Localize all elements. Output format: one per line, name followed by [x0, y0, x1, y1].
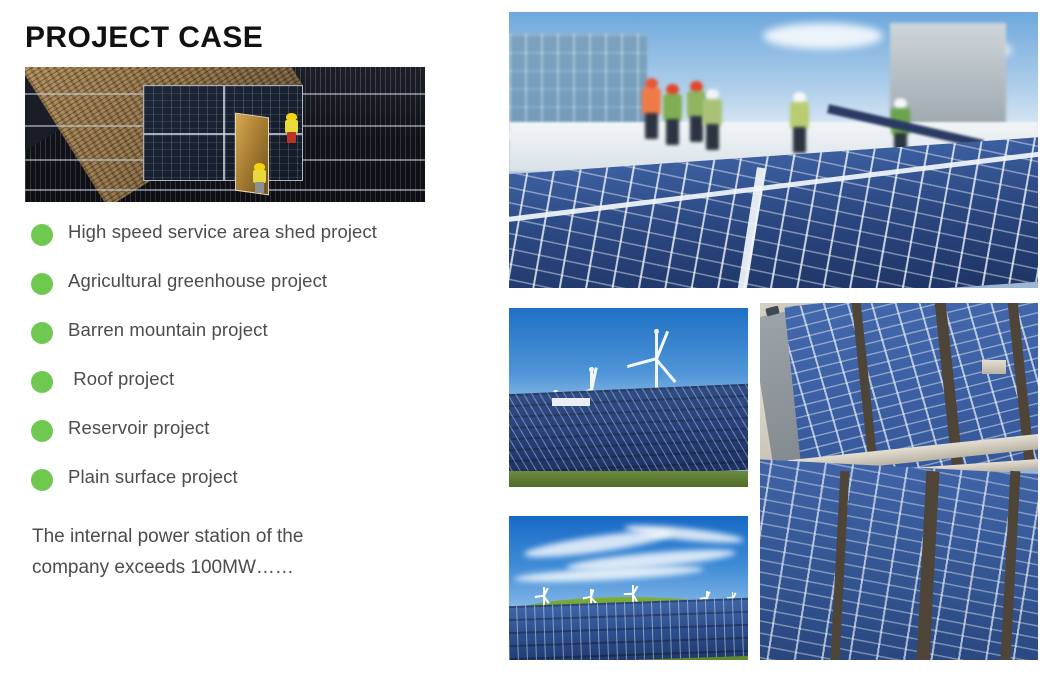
- list-item[interactable]: High speed service area shed project: [0, 216, 470, 265]
- inverter-building: [552, 398, 590, 407]
- solar-field-green-hills-photo: [509, 516, 748, 660]
- worker-legs: [255, 182, 264, 193]
- lower-panel-array: [760, 459, 1038, 660]
- roof-solar-installation-photo: [25, 67, 425, 202]
- list-item-label: Barren mountain project: [68, 319, 268, 341]
- hard-hat-icon: [894, 98, 907, 109]
- hi-vis-vest: [790, 102, 809, 129]
- list-item-label: Plain surface project: [68, 466, 238, 488]
- list-item[interactable]: Roof project: [0, 363, 470, 412]
- list-item-label: High speed service area shed project: [68, 221, 377, 243]
- worker-legs: [645, 113, 658, 139]
- summary-paragraph: The internal power station of the compan…: [32, 521, 452, 583]
- installed-panel-array: [143, 85, 303, 181]
- list-item[interactable]: Barren mountain project: [0, 314, 470, 363]
- page-title: PROJECT CASE: [25, 23, 263, 53]
- hi-vis-vest: [703, 99, 722, 126]
- roof-rail: [25, 189, 425, 191]
- glass-facade-building: [509, 34, 647, 133]
- bullet-dot-icon: [31, 469, 53, 491]
- hi-vis-vest: [663, 94, 682, 121]
- left-content-column: PROJECT CASE: [0, 0, 495, 689]
- worker-legs: [666, 119, 679, 145]
- list-item-label: Agricultural greenhouse project: [68, 270, 327, 292]
- project-case-slide: PROJECT CASE: [0, 0, 1060, 689]
- list-item-label: Roof project: [68, 368, 174, 390]
- worker-legs: [706, 124, 719, 150]
- worker-figure: [253, 163, 266, 193]
- rooftop-install-workers-photo: [509, 12, 1038, 288]
- aerial-rooftop-array-photo: [760, 303, 1038, 660]
- turbine-hub: [654, 329, 659, 334]
- bullet-dot-icon: [31, 224, 53, 246]
- worker-legs: [793, 127, 806, 153]
- roof-equipment: [982, 360, 1006, 374]
- list-item[interactable]: Plain surface project: [0, 461, 470, 510]
- bullet-dot-icon: [31, 273, 53, 295]
- ground-mounted-solar-array: [509, 383, 748, 480]
- hi-vis-vest: [642, 88, 661, 115]
- list-item[interactable]: Reservoir project: [0, 412, 470, 461]
- worker-legs: [287, 132, 296, 143]
- bullet-dot-icon: [31, 371, 53, 393]
- list-item-label: Reservoir project: [68, 417, 210, 439]
- turbine-blade: [655, 359, 676, 384]
- bullet-dot-icon: [31, 322, 53, 344]
- grass-strip: [509, 471, 748, 487]
- list-item[interactable]: Agricultural greenhouse project: [0, 265, 470, 314]
- wind-turbines-solar-farm-photo: [509, 308, 748, 487]
- worker-legs: [690, 116, 703, 142]
- cloud: [763, 23, 883, 49]
- wind-turbine: [535, 587, 553, 605]
- bullet-dot-icon: [31, 420, 53, 442]
- worker-figure: [285, 113, 298, 143]
- solar-panel-rows: [509, 598, 748, 660]
- project-type-list: High speed service area shed project Agr…: [0, 216, 470, 510]
